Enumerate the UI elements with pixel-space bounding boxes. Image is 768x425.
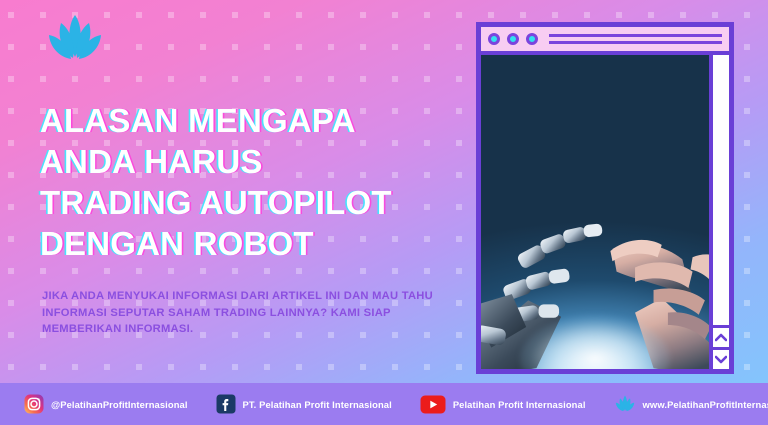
headline-line: DENGAN ROBOT — [40, 223, 470, 264]
scrollbar-thumb[interactable] — [713, 55, 729, 328]
headline-line: ANDA HARUS — [40, 141, 470, 182]
footer-label-instagram: @PelatihanProfitInternasional — [51, 399, 188, 410]
social-footer-bar: @PelatihanProfitInternasional PT. Pelati… — [0, 383, 768, 425]
facebook-icon — [216, 394, 236, 414]
browser-content-area — [481, 55, 729, 369]
browser-title-bar — [481, 27, 729, 55]
browser-window-mockup — [476, 22, 734, 374]
youtube-icon — [420, 395, 446, 414]
footer-label-website: www.PelatihanProfitInternasional.com — [643, 399, 768, 410]
poster-canvas: ALASAN MENGAPA ANDA HARUS TRADING AUTOPI… — [0, 0, 768, 425]
minimize-dot-icon[interactable] — [507, 33, 519, 45]
footer-label-youtube: Pelatihan Profit Internasional — [453, 399, 586, 410]
instagram-icon — [24, 394, 44, 414]
lotus-logo-icon — [44, 13, 106, 65]
subtitle-text: JIKA ANDA MENYUKAI INFORMASI DARI ARTIKE… — [42, 288, 454, 338]
footer-label-facebook: PT. Pelatihan Profit Internasional — [243, 399, 392, 410]
chevron-up-icon[interactable] — [713, 328, 729, 350]
address-bar-lines-icon[interactable] — [549, 34, 722, 44]
footer-item-facebook[interactable]: PT. Pelatihan Profit Internasional — [216, 394, 392, 414]
footer-item-youtube[interactable]: Pelatihan Profit Internasional — [420, 395, 586, 414]
headline-line: ALASAN MENGAPA — [40, 100, 470, 141]
maximize-dot-icon[interactable] — [526, 33, 538, 45]
headline-line: TRADING AUTOPILOT — [40, 182, 470, 223]
chevron-down-icon[interactable] — [713, 350, 729, 369]
close-dot-icon[interactable] — [488, 33, 500, 45]
footer-item-instagram[interactable]: @PelatihanProfitInternasional — [24, 394, 188, 414]
footer-item-website[interactable]: www.PelatihanProfitInternasional.com — [614, 394, 768, 414]
website-lotus-icon — [614, 394, 636, 414]
page-title: ALASAN MENGAPA ANDA HARUS TRADING AUTOPI… — [40, 100, 470, 264]
scrollbar[interactable] — [709, 55, 729, 369]
robot-human-hands-image — [481, 55, 709, 369]
